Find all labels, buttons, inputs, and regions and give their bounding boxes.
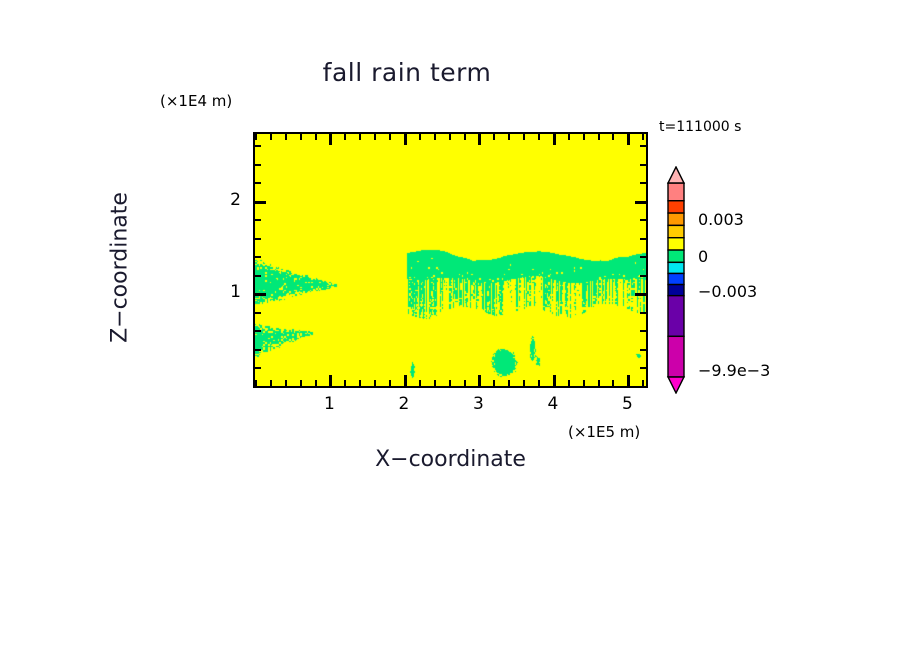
plot-area (253, 132, 648, 388)
x-tick-top-minor (612, 134, 614, 140)
x-tick-major (627, 375, 630, 386)
x-tick-top-major (627, 134, 630, 145)
x-tick-top-minor (344, 134, 346, 140)
colorbar-tick-label: 0 (698, 247, 708, 266)
y-tick-right-minor (640, 164, 646, 166)
x-tick-minor (612, 380, 614, 386)
colorbar-band-3 (668, 225, 684, 237)
x-tick-top-major (553, 134, 556, 145)
x-tick-minor (434, 380, 436, 386)
colorbar-band-10 (668, 336, 684, 377)
colorbar (663, 166, 689, 394)
colorbar-top-arrow (668, 167, 684, 183)
x-tick-minor (359, 380, 361, 386)
colorbar-band-2 (668, 213, 684, 225)
colorbar-band-0 (668, 183, 684, 201)
colorbar-band-4 (668, 238, 684, 250)
y-axis-unit-label: (×1E4 m) (160, 92, 232, 110)
x-tick-minor (344, 380, 346, 386)
colorbar-band-6 (668, 262, 684, 273)
y-tick-minor (255, 164, 261, 166)
x-tick-top-minor (449, 134, 451, 140)
y-tick-right-minor (640, 312, 646, 314)
x-tick-minor (449, 380, 451, 386)
x-tick-major (329, 375, 332, 386)
y-tick-minor (255, 256, 261, 258)
x-tick-major (404, 375, 407, 386)
x-tick-minor (374, 380, 376, 386)
x-tick-minor (523, 380, 525, 386)
y-tick-minor (255, 386, 261, 388)
x-tick-label: 4 (538, 394, 568, 414)
x-tick-minor (389, 380, 391, 386)
y-tick-label: 1 (211, 282, 241, 302)
x-tick-top-minor (464, 134, 466, 140)
y-tick-right-minor (640, 330, 646, 332)
colorbar-band-5 (668, 250, 684, 262)
x-tick-top-minor (434, 134, 436, 140)
x-tick-top-minor (583, 134, 585, 140)
y-tick-minor (255, 182, 261, 184)
x-tick-minor (538, 380, 540, 386)
y-tick-right-major (635, 293, 646, 296)
x-tick-top-minor (538, 134, 540, 140)
x-tick-minor (300, 380, 302, 386)
x-tick-top-minor (374, 134, 376, 140)
x-tick-top-minor (315, 134, 317, 140)
y-tick-minor (255, 349, 261, 351)
x-tick-label: 3 (463, 394, 493, 414)
x-tick-top-minor (598, 134, 600, 140)
x-tick-minor (508, 380, 510, 386)
x-tick-major (478, 375, 481, 386)
colorbar-svg (663, 166, 689, 394)
colorbar-band-1 (668, 201, 684, 213)
x-tick-top-major (478, 134, 481, 145)
colorbar-band-7 (668, 273, 684, 284)
y-tick-major (255, 201, 266, 204)
x-tick-top-major (404, 134, 407, 145)
colorbar-band-8 (668, 285, 684, 296)
colorbar-tick-label: 0.003 (698, 210, 744, 229)
x-tick-top-minor (419, 134, 421, 140)
x-tick-minor (315, 380, 317, 386)
y-tick-right-minor (640, 219, 646, 221)
colorbar-tick-label: −9.9e−3 (698, 361, 770, 380)
x-tick-minor (464, 380, 466, 386)
x-tick-top-minor (270, 134, 272, 140)
x-tick-major (553, 375, 556, 386)
y-tick-minor (255, 219, 261, 221)
x-tick-top-minor (568, 134, 570, 140)
page-title: fall rain term (0, 58, 859, 87)
y-tick-right-minor (640, 367, 646, 369)
x-tick-top-minor (285, 134, 287, 140)
y-tick-right-minor (640, 349, 646, 351)
x-tick-top-minor (300, 134, 302, 140)
x-tick-top-minor (389, 134, 391, 140)
x-tick-label: 1 (314, 394, 344, 414)
x-tick-top-minor (508, 134, 510, 140)
x-tick-top-minor (359, 134, 361, 140)
x-tick-minor (419, 380, 421, 386)
y-tick-right-major (635, 201, 646, 204)
x-axis-title: X−coordinate (253, 447, 648, 472)
time-stamp-label: t=111000 s (659, 119, 741, 135)
y-tick-minor (255, 238, 261, 240)
y-tick-right-minor (640, 145, 646, 147)
y-tick-minor (255, 330, 261, 332)
heatmap-canvas (255, 134, 646, 386)
y-tick-right-minor (640, 275, 646, 277)
x-tick-minor (270, 380, 272, 386)
colorbar-tick-label: −0.003 (698, 282, 757, 301)
x-axis-unit-label: (×1E5 m) (568, 423, 640, 441)
y-tick-right-minor (640, 256, 646, 258)
x-tick-top-minor (255, 134, 257, 140)
x-tick-label: 2 (389, 394, 419, 414)
colorbar-bottom-arrow (668, 377, 684, 393)
x-tick-minor (583, 380, 585, 386)
x-tick-top-major (329, 134, 332, 145)
x-tick-minor (568, 380, 570, 386)
y-axis-title: Z−coordinate (108, 138, 133, 398)
y-tick-minor (255, 367, 261, 369)
y-tick-minor (255, 145, 261, 147)
x-tick-label: 5 (612, 394, 642, 414)
x-tick-minor (598, 380, 600, 386)
x-tick-top-minor (523, 134, 525, 140)
y-tick-minor (255, 312, 261, 314)
y-tick-right-minor (640, 238, 646, 240)
colorbar-band-9 (668, 296, 684, 337)
x-tick-minor (493, 380, 495, 386)
y-tick-right-minor (640, 182, 646, 184)
x-tick-minor (285, 380, 287, 386)
y-tick-label: 2 (211, 190, 241, 210)
y-tick-major (255, 293, 266, 296)
x-tick-top-minor (642, 134, 644, 140)
y-tick-minor (255, 275, 261, 277)
x-tick-top-minor (493, 134, 495, 140)
y-tick-right-minor (640, 386, 646, 388)
